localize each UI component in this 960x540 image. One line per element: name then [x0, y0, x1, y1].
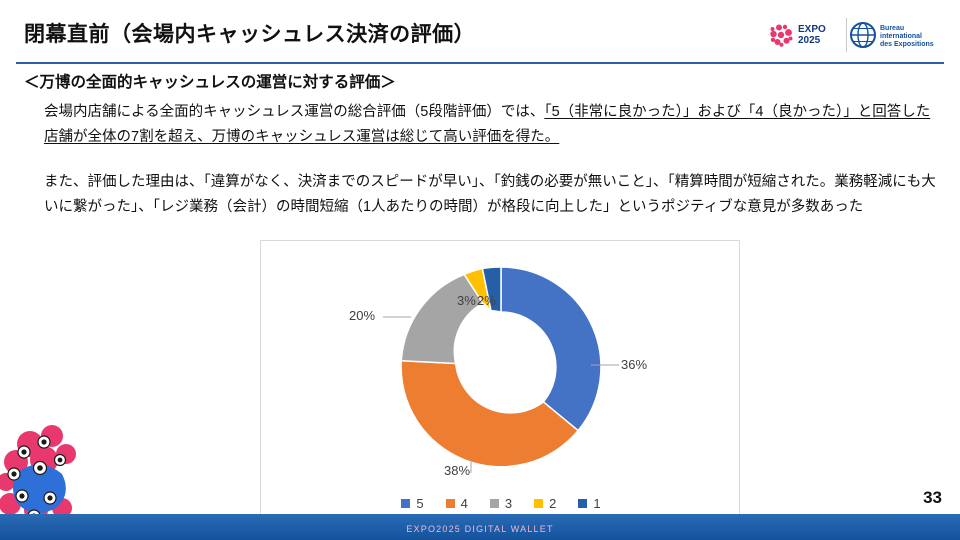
slice-label-3: 20%	[349, 308, 375, 323]
donut-chart: 36% 38% 20% 3% 2%	[261, 245, 741, 485]
page-number: 33	[923, 488, 942, 508]
logo-group: EXPO 2025 Bureau international des Expos…	[764, 14, 944, 56]
svg-text:international: international	[880, 33, 922, 40]
paragraph-2: また、評価した理由は、「違算がなく、決済までのスピードが早い」、「釣銭の必要が無…	[44, 170, 938, 221]
expo-logo-line1: EXPO	[798, 24, 826, 35]
bie-logo: Bureau international des Expositions	[847, 14, 943, 56]
svg-text:des Expositions: des Expositions	[880, 41, 934, 48]
donut-slices	[401, 267, 601, 467]
donut-chart-panel: 36% 38% 20% 3% 2% 5 4 3 2 1	[260, 240, 740, 522]
expo-2025-logo-icon: EXPO 2025	[765, 15, 845, 55]
donut-slice-4	[401, 361, 578, 467]
donut-slice-5	[501, 267, 601, 431]
slice-label-2: 3%	[457, 293, 476, 308]
section-subtitle: ＜万博の全面的キャッシュレスの運営に対する評価＞	[24, 70, 396, 92]
expo-2025-logo: EXPO 2025	[764, 14, 846, 56]
expo-logo-line2: 2025	[798, 35, 821, 46]
slice-label-1: 2%	[477, 293, 496, 308]
slice-label-4: 38%	[444, 463, 470, 478]
paragraph-1-part-a: 会場内店舗による全面的キャッシュレス運営の総合評価（5段階評価）では、	[44, 104, 544, 120]
page-title: 閉幕直前（会場内キャッシュレス決済の評価）	[24, 18, 475, 48]
slice-label-5: 36%	[621, 357, 647, 372]
header-divider	[16, 62, 944, 64]
donut-slice-3	[401, 274, 483, 363]
slide-header: 閉幕直前（会場内キャッシュレス決済の評価） EXPO 20	[0, 0, 960, 64]
svg-text:Bureau: Bureau	[880, 25, 904, 32]
donut-chart-svg	[261, 245, 741, 485]
footer-text: EXPO2025 DIGITAL WALLET	[0, 524, 960, 534]
paragraph-1: 会場内店舗による全面的キャッシュレス運営の総合評価（5段階評価）では、「5（非常…	[44, 100, 938, 151]
bie-logo-icon: Bureau international des Expositions	[848, 15, 942, 55]
